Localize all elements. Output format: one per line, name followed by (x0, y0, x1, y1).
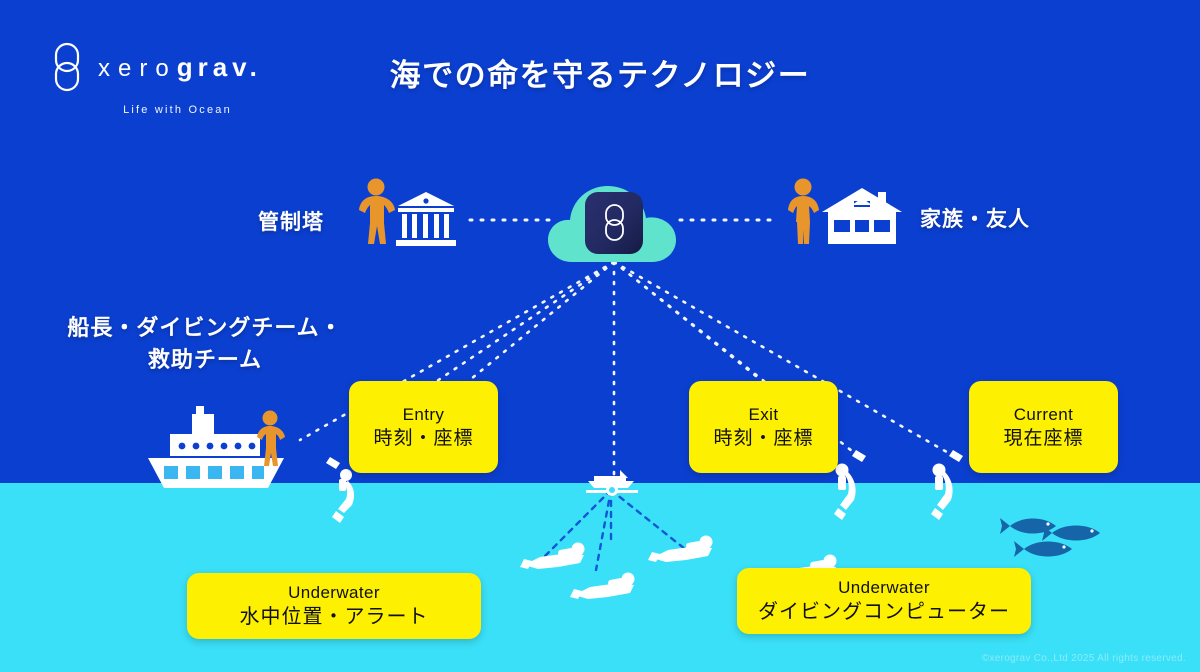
info-box-underwater-alert[interactable]: Underwater 水中位置・アラート (187, 573, 481, 639)
info-box-current-en: Current (1014, 404, 1074, 425)
label-crew-teams: 船長・ダイビングチーム・ 救助チーム (55, 312, 355, 376)
info-box-current[interactable]: Current 現在座標 (969, 381, 1118, 473)
info-box-entry[interactable]: Entry 時刻・座標 (349, 381, 498, 473)
info-box-underwater-computer[interactable]: Underwater ダイビングコンピューター (737, 568, 1031, 634)
label-control-tower: 管制塔 (258, 206, 324, 236)
info-box-underwater-alert-jp: 水中位置・アラート (240, 605, 429, 630)
info-box-underwater-computer-jp: ダイビングコンピューター (758, 600, 1010, 625)
info-box-exit-en: Exit (749, 404, 779, 425)
label-crew-line1: 船長・ダイビングチーム・ (55, 312, 355, 344)
label-family-friends: 家族・友人 (920, 203, 1030, 233)
copyright-text: ©xerograv Co.,Ltd 2025 All rights reserv… (982, 653, 1186, 664)
info-box-current-jp: 現在座標 (1003, 427, 1083, 451)
info-box-underwater-alert-en: Underwater (288, 582, 380, 603)
slide-canvas: xerograv. Life with Ocean 海での命を守るテクノロジー (0, 0, 1200, 672)
info-box-exit[interactable]: Exit 時刻・座標 (689, 381, 838, 473)
info-box-exit-jp: 時刻・座標 (713, 427, 813, 451)
info-box-entry-jp: 時刻・座標 (373, 427, 473, 451)
info-box-underwater-computer-en: Underwater (838, 577, 930, 598)
info-box-entry-en: Entry (403, 404, 445, 425)
page-title: 海での命を守るテクノロジー (0, 50, 1200, 95)
label-crew-line2: 救助チーム (55, 344, 355, 376)
brand-tagline: Life with Ocean (50, 104, 305, 116)
